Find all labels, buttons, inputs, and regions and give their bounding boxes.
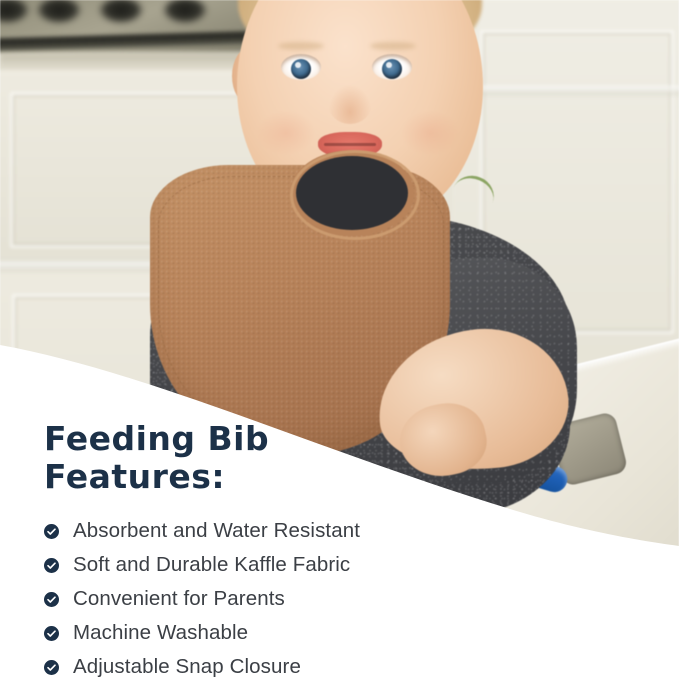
list-item: Adjustable Snap Closure [44, 653, 644, 679]
list-item: Absorbent and Water Resistant [44, 517, 644, 545]
check-circle-icon [44, 660, 59, 675]
iris [382, 59, 402, 79]
baby-eyebrow-right [370, 42, 416, 50]
check-circle-icon [44, 626, 59, 641]
list-item: Convenient for Parents [44, 585, 644, 613]
burner-grate-icon [0, 0, 30, 24]
feature-label: Soft and Durable Kaffle Fabric [73, 553, 350, 577]
baby-eye-right [372, 54, 412, 80]
feature-panel: Feeding Bib Features: Absorbent and Wate… [44, 420, 644, 679]
check-circle-icon [44, 524, 59, 539]
baby-eyebrow-left [278, 42, 324, 50]
burner-grate-icon [36, 0, 82, 24]
baby-cheek-left [256, 110, 316, 156]
baby-cheek-right [400, 110, 460, 156]
product-feature-image: Feeding Bib Features: Absorbent and Wate… [0, 0, 679, 679]
feature-label: Absorbent and Water Resistant [73, 519, 360, 543]
feature-label: Adjustable Snap Closure [73, 655, 301, 679]
bib-neck-trim [290, 150, 420, 240]
check-circle-icon [44, 592, 59, 607]
baby-nose [328, 84, 372, 124]
burner-grate-icon [162, 0, 208, 24]
iris [291, 59, 311, 79]
feature-list: Absorbent and Water Resistant Soft and D… [44, 517, 644, 679]
feature-label: Machine Washable [73, 621, 248, 645]
cabinet-rail [452, 86, 679, 95]
baby-eye-left [281, 54, 321, 80]
feature-label: Convenient for Parents [73, 587, 285, 611]
list-item: Machine Washable [44, 619, 644, 647]
page-title: Feeding Bib Features: [44, 420, 644, 495]
list-item: Soft and Durable Kaffle Fabric [44, 551, 644, 579]
check-circle-icon [44, 558, 59, 573]
burner-grate-icon [98, 0, 144, 24]
